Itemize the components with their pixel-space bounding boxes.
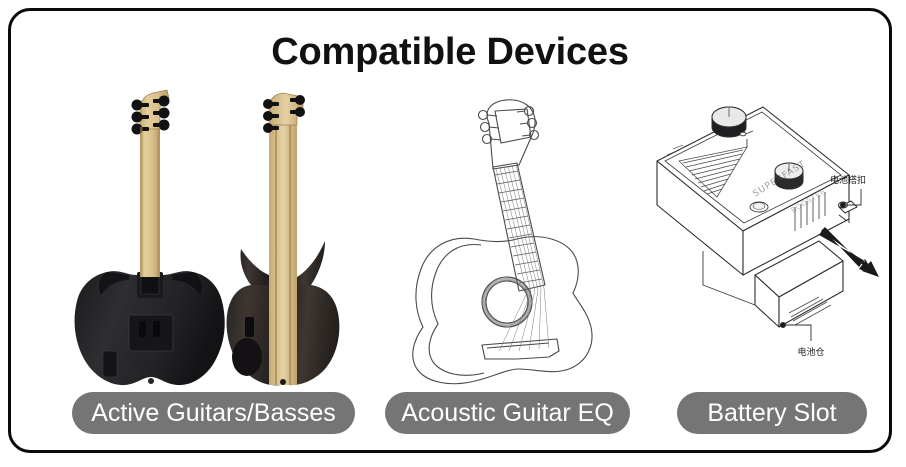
annotation-battery-compartment: 电池仓	[797, 346, 824, 358]
compatible-devices-card: Compatible Devices	[8, 8, 892, 453]
illustration-acoustic-guitar-eq	[377, 89, 627, 389]
annotation-battery-snap: 电池搭扣	[830, 174, 866, 186]
effects-pedal-image: SUPERFAST BOOSTER	[643, 89, 883, 389]
illustration-battery-slot: SUPERFAST BOOSTER	[643, 89, 883, 389]
page-title: Compatible Devices	[11, 33, 889, 71]
electric-guitar-graphic	[75, 90, 225, 385]
label-acoustic-guitar-eq: Acoustic Guitar EQ	[385, 392, 630, 434]
bass-guitar-graphic	[227, 93, 340, 385]
label-active-guitars-basses: Active Guitars/Basses	[72, 392, 355, 434]
label-battery-slot: Battery Slot	[677, 392, 867, 434]
acoustic-guitar-image	[377, 89, 627, 389]
electric-guitar-bass-image	[63, 89, 353, 389]
illustration-active-guitars-basses	[63, 89, 353, 389]
